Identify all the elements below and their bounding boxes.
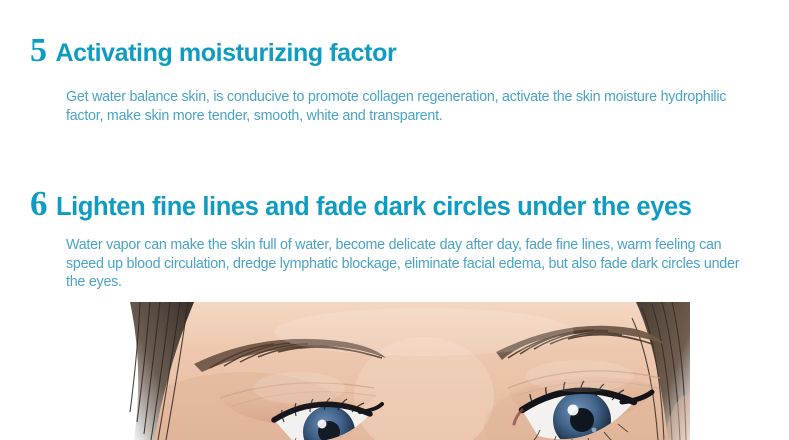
section-5-heading: Activating moisturizing factor <box>56 41 397 66</box>
section-activating-moisturizing-factor: 5 Activating moisturizing factor Get wat… <box>0 34 789 125</box>
eye-photo-artwork <box>124 302 690 440</box>
section-lighten-fine-lines: 6 Lighten fine lines and fade dark circl… <box>0 186 789 292</box>
section-6-number: 6 <box>30 186 47 221</box>
section-5-number: 5 <box>30 34 47 68</box>
eye-close-up-photo <box>124 302 690 440</box>
section-5-heading-row: 5 Activating moisturizing factor <box>0 34 789 68</box>
section-5-body: Get water balance skin, is conducive to … <box>0 88 789 125</box>
page-canvas: 5 Activating moisturizing factor Get wat… <box>0 0 789 440</box>
section-6-body: Water vapor can make the skin full of wa… <box>0 236 789 292</box>
section-6-heading-row: 6 Lighten fine lines and fade dark circl… <box>0 186 789 221</box>
section-6-heading: Lighten fine lines and fade dark circles… <box>56 195 692 221</box>
